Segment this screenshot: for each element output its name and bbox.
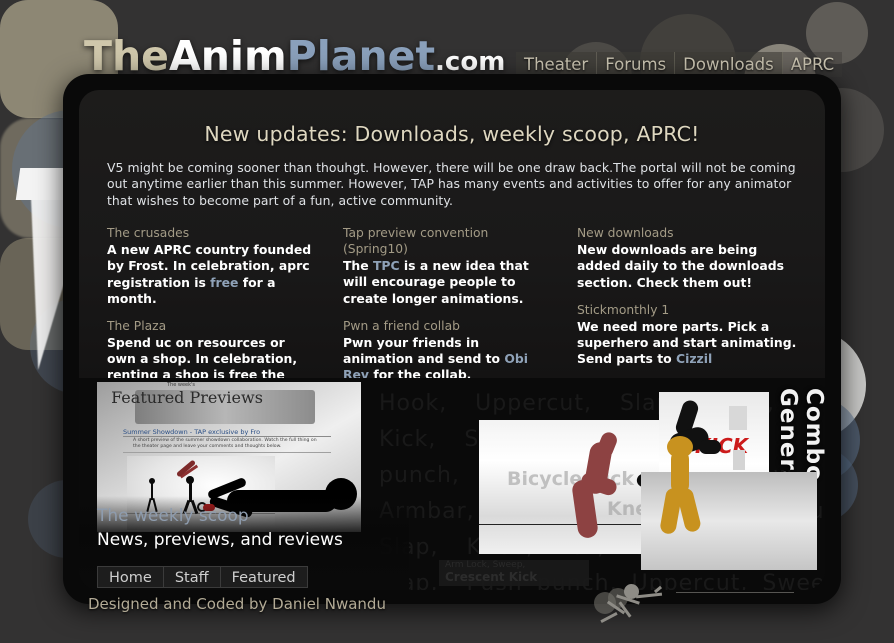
runner-stick-figure	[594, 578, 678, 630]
combo-plate-line-1: Arm Lock, Sweep,	[445, 560, 525, 570]
main-window-inner: New updates: Downloads, weekly scoop, AP…	[79, 90, 825, 590]
news-intro-text: V5 might be coming sooner than thouhgt. …	[79, 146, 825, 209]
combo-plate: Arm Lock, Sweep, Crescent Kick	[439, 560, 589, 586]
logo-part-planet: Planet	[287, 32, 435, 80]
tab-home[interactable]: Home	[97, 566, 163, 588]
tab-featured[interactable]: Featured	[220, 566, 308, 588]
divider	[123, 436, 331, 437]
update-body: The TPC is a new idea that will encourag…	[343, 258, 549, 307]
update-heading: Tap preview convention (Spring10)	[343, 225, 549, 257]
news-headline: New updates: Downloads, weekly scoop, AP…	[79, 90, 825, 146]
update-heading: New downloads	[577, 225, 799, 241]
combo-plate-line-2: Crescent Kick	[445, 570, 537, 584]
update-heading: The crusades	[107, 225, 317, 241]
site-logo[interactable]: TheAnimPlanet.com	[84, 36, 505, 77]
page-root: V TheAnimPlanet.com Theater Forums Downl…	[0, 0, 894, 643]
floor-line	[479, 524, 667, 525]
featured-paragraph: A short preview of the summer showdown c…	[133, 438, 323, 450]
update-heading: Pwn a friend collab	[343, 318, 549, 334]
update-body-pre: Pwn your friends in animation and send t…	[343, 335, 504, 366]
bicycle-kick-screenshot[interactable]: Bicycle Kick Knee	[479, 420, 667, 554]
update-body: New downloads are being added daily to t…	[577, 242, 799, 291]
update-body: We need more parts. Pick a superhero and…	[577, 319, 799, 368]
update-heading: Stickmonthly 1	[577, 302, 799, 318]
update-body-pre: New downloads are being added daily to t…	[577, 242, 784, 289]
scoop-subtitle: News, previews, and reviews	[97, 530, 343, 550]
update-heading: The Plaza	[107, 318, 317, 334]
update-body-pre: The	[343, 258, 373, 273]
featured-banner-title: Featured Previews	[97, 388, 277, 407]
featured-subtitle: Summer Showdown - TAP exclusive by Fro	[123, 428, 260, 436]
news-panel: New updates: Downloads, weekly scoop, AP…	[79, 90, 825, 378]
update-body: Pwn your friends in animation and send t…	[343, 335, 549, 384]
showcase-area: Hook, Uppercut, Slap, Knee, Kick, Side k…	[79, 378, 825, 590]
update-item: The crusades A new APRC country founded …	[107, 225, 317, 307]
tab-staff[interactable]: Staff	[163, 566, 220, 588]
showcase-tabs: Home Staff Featured	[97, 566, 308, 588]
update-link[interactable]: free	[210, 275, 238, 290]
update-item: New downloads New downloads are being ad…	[577, 225, 799, 291]
update-link[interactable]: TPC	[373, 258, 400, 273]
logo-part-anim: Anim	[169, 32, 287, 80]
rope-line	[676, 592, 794, 593]
update-body: A new APRC country founded by Frost. In …	[107, 242, 317, 307]
scoop-title: The weekly scoop	[97, 506, 249, 526]
divider	[123, 452, 331, 453]
update-item: Pwn a friend collab Pwn your friends in …	[343, 318, 549, 384]
main-window: New updates: Downloads, weekly scoop, AP…	[63, 74, 841, 604]
logo-part-the: The	[84, 32, 169, 80]
update-link[interactable]: Cizzil	[676, 351, 712, 366]
logo-part-com: .com	[435, 47, 505, 77]
combo-secondary-screenshot[interactable]	[641, 472, 817, 570]
update-item: Stickmonthly 1 We need more parts. Pick …	[577, 302, 799, 368]
update-item: Tap preview convention (Spring10) The TP…	[343, 225, 549, 307]
footer-credit: Designed and Coded by Daniel Nwandu	[88, 595, 386, 613]
